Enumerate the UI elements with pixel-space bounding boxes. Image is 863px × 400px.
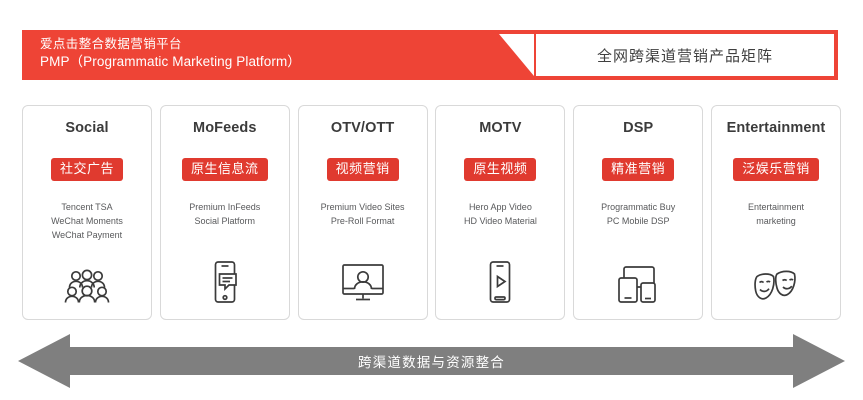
product-card-dsp[interactable]: DSP 精准营销 Programmatic Buy PC Mobile DSP [573,105,703,320]
product-card-otv-ott[interactable]: OTV/OTT 视频营销 Premium Video Sites Pre-Rol… [298,105,428,320]
card-title: MOTV [479,120,521,136]
integration-arrow-bar: 跨渠道数据与资源整合 [18,332,845,390]
card-description: Programmatic Buy PC Mobile DSP [576,201,700,229]
banner-title-block: 爱点击整合数据营销平台 PMP（Programmatic Marketing P… [40,36,480,70]
card-badge: 社交广告 [51,158,123,181]
card-badge: 泛娱乐营销 [733,158,819,181]
card-badge: 原生信息流 [182,158,268,181]
product-card-entertainment[interactable]: Entertainment 泛娱乐营销 Entertainment market… [711,105,841,320]
product-card-row: Social 社交广告 Tencent TSA WeChat Moments W… [22,105,841,320]
product-card-motv[interactable]: MOTV 原生视频 Hero App Video HD Video Materi… [435,105,565,320]
banner-title-cn: 爱点击整合数据营销平台 [40,36,480,53]
banner-title-en: PMP（Programmatic Marketing Platform） [40,53,480,71]
integration-arrow-label: 跨渠道数据与资源整合 [18,332,845,390]
card-badge: 原生视频 [464,158,536,181]
card-title: Social [65,120,108,136]
people-group-icon [23,259,151,303]
card-description: Entertainment marketing [714,201,838,229]
card-title: Entertainment [727,120,826,136]
card-title: OTV/OTT [331,120,395,136]
card-title: MoFeeds [193,120,257,136]
desktop-video-icon [299,259,427,303]
banner-subtitle: 全网跨渠道营销产品矩阵 [536,34,834,76]
card-badge: 视频营销 [327,158,399,181]
theater-masks-icon [712,259,840,303]
card-badge: 精准营销 [602,158,674,181]
card-description: Hero App Video HD Video Material [438,201,562,229]
phone-feed-icon [161,259,289,303]
card-title: DSP [623,120,653,136]
marketing-product-matrix-infographic: 爱点击整合数据营销平台 PMP（Programmatic Marketing P… [0,0,863,400]
product-card-mofeeds[interactable]: MoFeeds 原生信息流 Premium InFeeds Social Pla… [160,105,290,320]
header-banner: 爱点击整合数据营销平台 PMP（Programmatic Marketing P… [22,30,838,80]
card-description: Premium Video Sites Pre-Roll Format [301,201,425,229]
phone-play-icon [436,259,564,303]
multi-device-icon [574,259,702,303]
card-description: Tencent TSA WeChat Moments WeChat Paymen… [25,201,149,243]
product-card-social[interactable]: Social 社交广告 Tencent TSA WeChat Moments W… [22,105,152,320]
card-description: Premium InFeeds Social Platform [163,201,287,229]
